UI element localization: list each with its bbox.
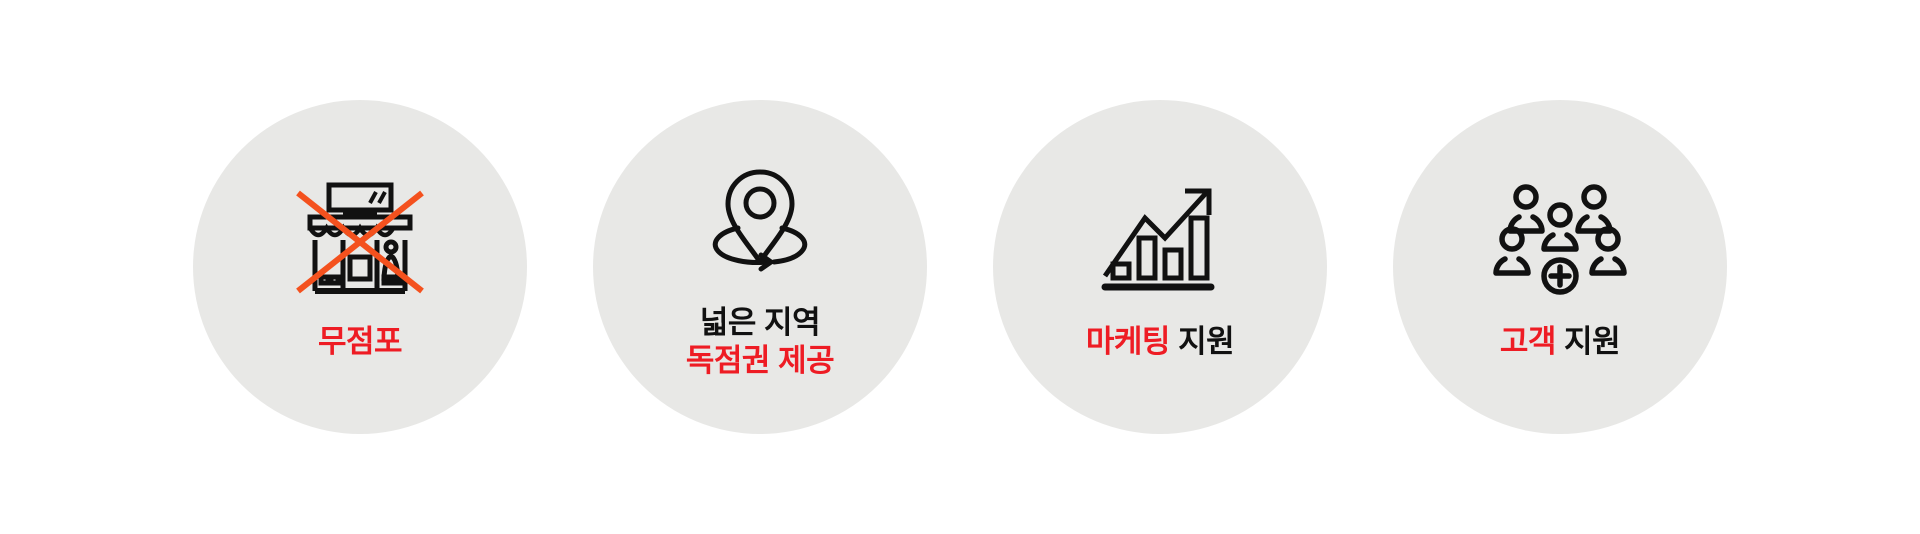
- card-caption: 넓은 지역 독점권 제공: [686, 304, 834, 380]
- caption-highlight: 고객: [1500, 324, 1556, 359]
- person-icon: [1578, 187, 1610, 231]
- person-icon: [1544, 205, 1576, 249]
- benefit-card-exclusive-territory[interactable]: 넓은 지역 독점권 제공: [593, 100, 927, 434]
- growth-chart-icon: [1096, 179, 1224, 301]
- caption-line-1: 고객 지원: [1500, 323, 1620, 361]
- caption-line-1: 마케팅 지원: [1086, 323, 1234, 361]
- person-icon: [1592, 229, 1624, 273]
- people-group-add-icon: [1496, 179, 1624, 301]
- plus-circle-icon: [1544, 260, 1576, 292]
- caption-line-1: 무점포: [318, 323, 402, 361]
- caption-line-1: 넓은 지역: [686, 304, 834, 342]
- card-caption: 고객 지원: [1500, 323, 1620, 361]
- benefit-card-no-storefront[interactable]: 무점포: [193, 100, 527, 434]
- storefront-crossed-out-icon: [296, 179, 424, 301]
- person-icon: [1496, 229, 1528, 273]
- caption-suffix: 지원: [1556, 324, 1620, 359]
- person-icon: [1510, 187, 1542, 231]
- caption-suffix: 지원: [1170, 324, 1234, 359]
- card-caption: 무점포: [318, 323, 402, 361]
- benefit-card-marketing-support[interactable]: 마케팅 지원: [993, 100, 1327, 434]
- benefit-card-row: 무점포 넓은 지역 독점권 제공: [0, 0, 1920, 534]
- location-pin-orbit-icon: [696, 160, 824, 282]
- benefit-card-customer-support[interactable]: 고객 지원: [1393, 100, 1727, 434]
- caption-line-2: 독점권 제공: [686, 342, 834, 380]
- card-caption: 마케팅 지원: [1086, 323, 1234, 361]
- caption-highlight: 마케팅: [1086, 324, 1170, 359]
